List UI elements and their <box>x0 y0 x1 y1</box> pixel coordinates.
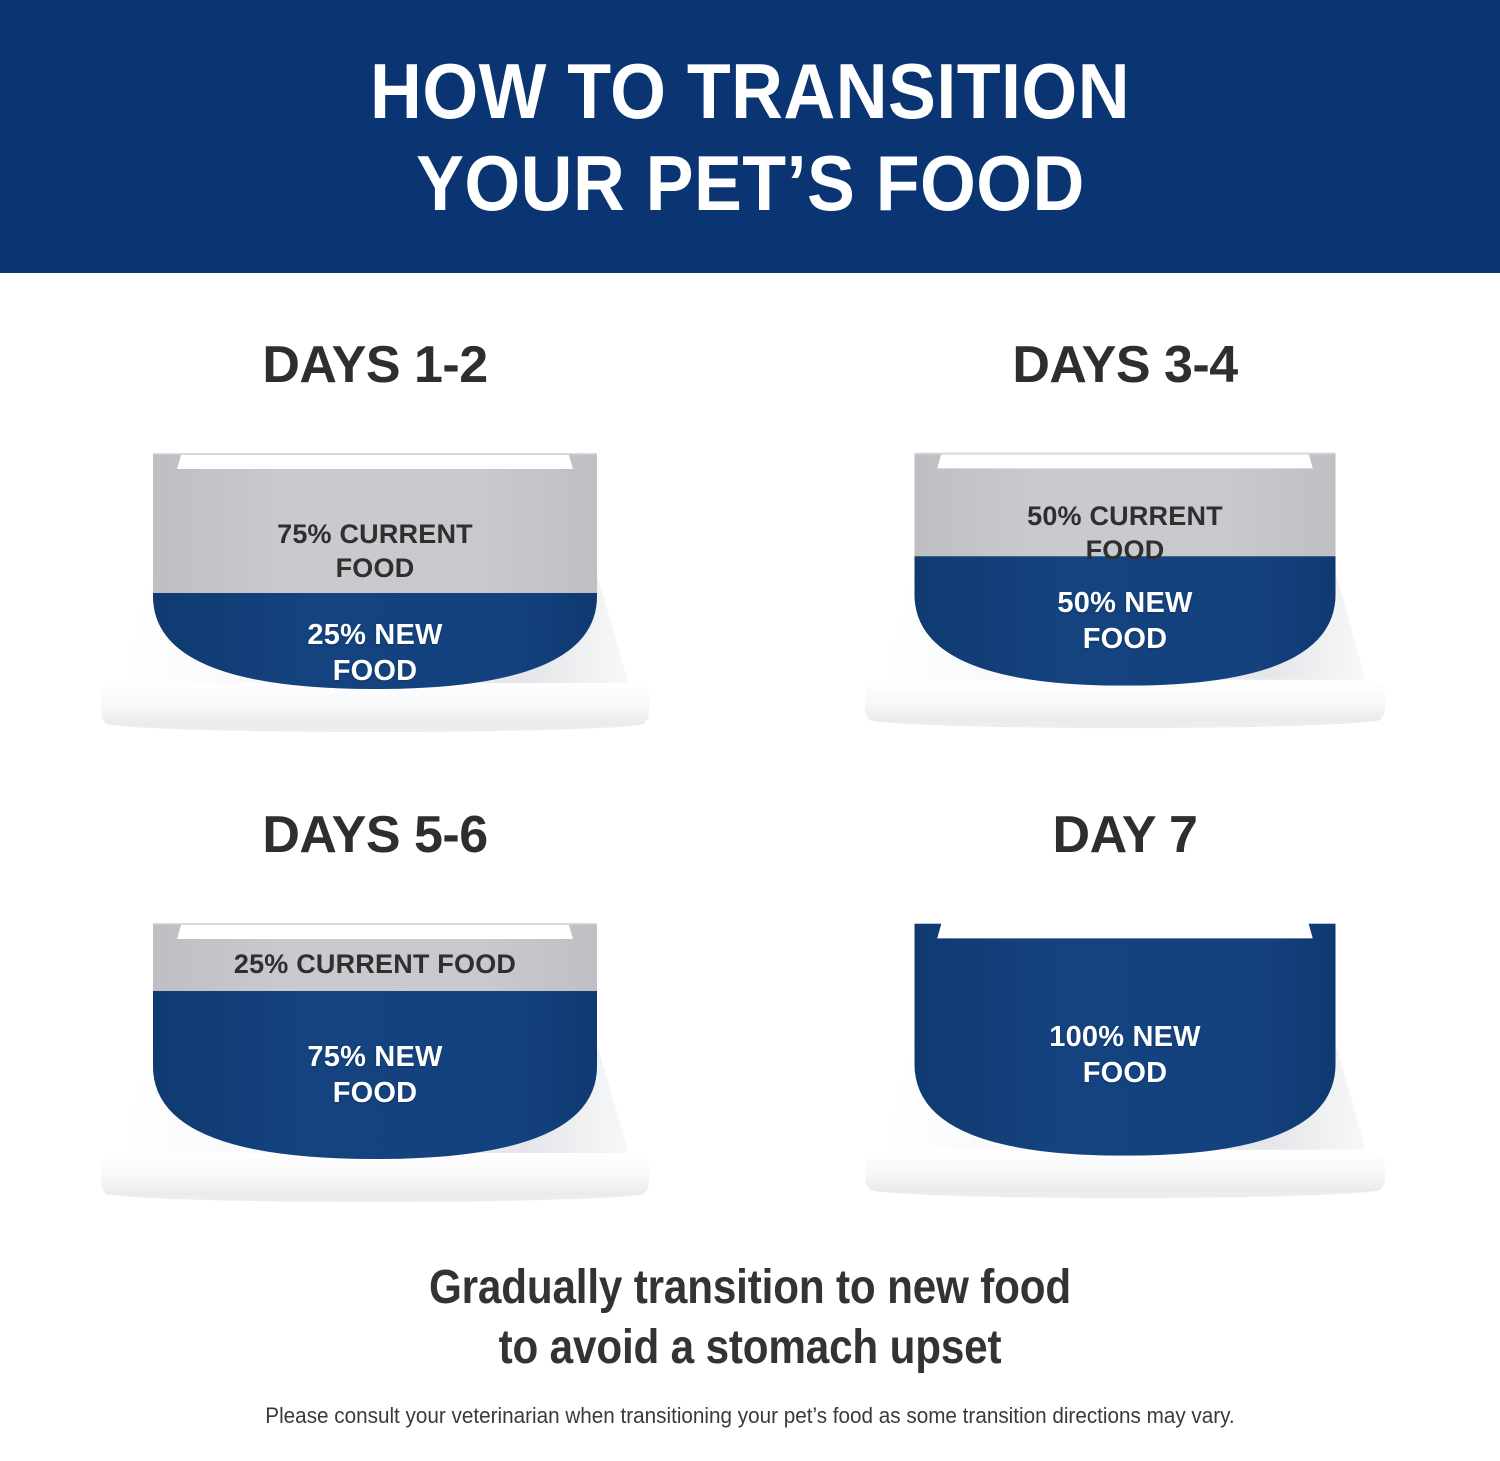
food-bowl-days-5-6: 25% CURRENT FOOD 75% NEW FOOD <box>65 891 685 1211</box>
infographic-page: HOW TO TRANSITION YOUR PET’S FOOD DAYS 1… <box>0 0 1500 1461</box>
footer-headline: Gradually transition to new food to avoi… <box>90 1258 1410 1378</box>
step-card-days-1-2: DAYS 1-2 <box>0 273 750 765</box>
bowl-graphic <box>831 891 1419 1207</box>
transition-steps-grid: DAYS 1-2 <box>0 273 1500 1258</box>
bowl-graphic <box>65 891 685 1211</box>
step-card-day-7: DAY 7 100% NEW <box>750 743 1500 1235</box>
food-bowl-days-1-2: 75% CURRENT FOOD 25% NEW FOOD <box>65 421 685 741</box>
header-title-line1: HOW TO TRANSITION <box>370 45 1130 137</box>
step-title: DAYS 3-4 <box>750 335 1500 395</box>
step-card-days-5-6: DAYS 5-6 <box>0 743 750 1235</box>
header-banner: HOW TO TRANSITION YOUR PET’S FOOD <box>0 0 1500 273</box>
header-title-line2: YOUR PET’S FOOD <box>416 137 1085 229</box>
footer-section: Gradually transition to new food to avoi… <box>0 1258 1500 1430</box>
food-bowl-day-7: 100% NEW FOOD <box>831 891 1419 1207</box>
step-title: DAY 7 <box>750 805 1500 865</box>
step-title: DAYS 5-6 <box>0 805 750 865</box>
footer-disclaimer: Please consult your veterinarian when tr… <box>45 1402 1455 1430</box>
step-card-days-3-4: DAYS 3-4 <box>750 273 1500 765</box>
step-title: DAYS 1-2 <box>0 335 750 395</box>
bowl-graphic <box>65 421 685 741</box>
food-bowl-days-3-4: 50% CURRENT FOOD 50% NEW FOOD <box>831 421 1419 737</box>
bowl-graphic <box>831 421 1419 737</box>
